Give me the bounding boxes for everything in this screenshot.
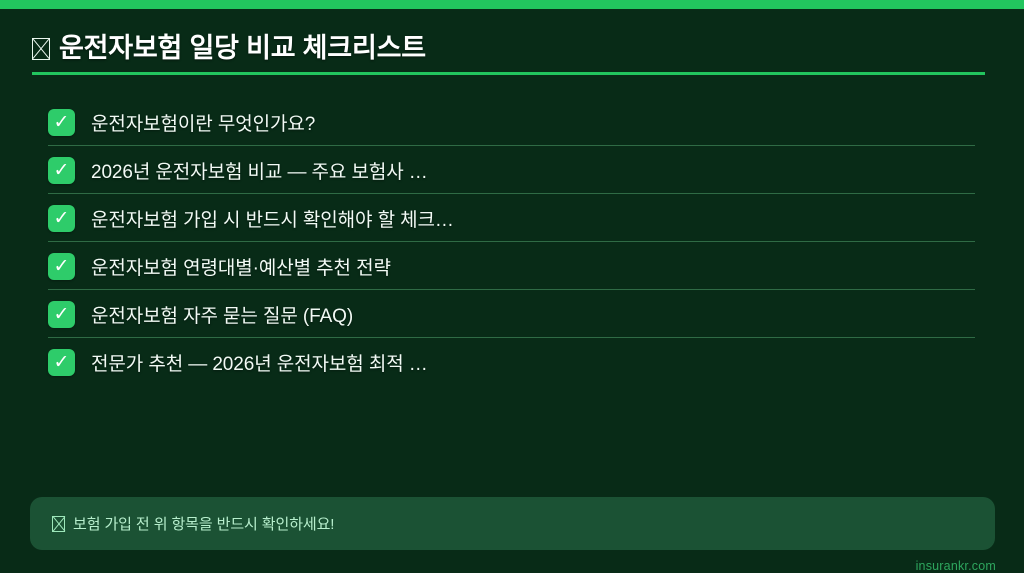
list-item-label: 2026년 운전자보험 비교 — 주요 보험사 … xyxy=(91,157,428,184)
footer-watermark: insurankr.com xyxy=(916,559,996,573)
list-item[interactable]: ✓ 운전자보험 가입 시 반드시 확인해야 할 체크… xyxy=(0,194,1024,242)
notice-text: 보험 가입 전 위 항목을 반드시 확인하세요! xyxy=(73,513,334,534)
check-glyph: ✓ xyxy=(48,253,75,280)
checkbox-checked-icon[interactable]: ✓ xyxy=(48,301,75,328)
checkbox-checked-icon[interactable]: ✓ xyxy=(48,349,75,376)
list-item-label: 운전자보험이란 무엇인가요? xyxy=(91,109,315,136)
list-item-label: 운전자보험 가입 시 반드시 확인해야 할 체크… xyxy=(91,205,454,232)
title-tofu-icon xyxy=(32,38,50,60)
top-accent-bar xyxy=(0,0,1024,9)
notice-banner: 보험 가입 전 위 항목을 반드시 확인하세요! xyxy=(30,497,995,550)
list-item[interactable]: ✓ 운전자보험이란 무엇인가요? xyxy=(0,98,1024,146)
list-item-label: 전문가 추천 — 2026년 운전자보험 최적 … xyxy=(91,349,428,376)
check-glyph: ✓ xyxy=(48,157,75,184)
list-item[interactable]: ✓ 운전자보험 연령대별·예산별 추천 전략 xyxy=(0,242,1024,290)
list-item[interactable]: ✓ 운전자보험 자주 묻는 질문 (FAQ) xyxy=(0,290,1024,338)
check-glyph: ✓ xyxy=(48,109,75,136)
checklist: ✓ 운전자보험이란 무엇인가요? ✓ 2026년 운전자보험 비교 — 주요 보… xyxy=(0,98,1024,386)
list-item[interactable]: ✓ 전문가 추천 — 2026년 운전자보험 최적 … xyxy=(0,338,1024,386)
checkbox-checked-icon[interactable]: ✓ xyxy=(48,253,75,280)
check-glyph: ✓ xyxy=(48,349,75,376)
checkbox-checked-icon[interactable]: ✓ xyxy=(48,205,75,232)
check-glyph: ✓ xyxy=(48,205,75,232)
notice-tofu-icon xyxy=(52,516,65,532)
page-title: 운전자보험 일당 비교 체크리스트 xyxy=(32,35,426,62)
list-item-label: 운전자보험 연령대별·예산별 추천 전략 xyxy=(91,253,391,280)
page-title-text: 운전자보험 일당 비교 체크리스트 xyxy=(59,33,426,63)
list-item-label: 운전자보험 자주 묻는 질문 (FAQ) xyxy=(91,301,353,328)
title-underline xyxy=(32,72,985,75)
check-glyph: ✓ xyxy=(48,301,75,328)
checkbox-checked-icon[interactable]: ✓ xyxy=(48,109,75,136)
list-item[interactable]: ✓ 2026년 운전자보험 비교 — 주요 보험사 … xyxy=(0,146,1024,194)
checkbox-checked-icon[interactable]: ✓ xyxy=(48,157,75,184)
header: 운전자보험 일당 비교 체크리스트 xyxy=(0,9,1024,75)
